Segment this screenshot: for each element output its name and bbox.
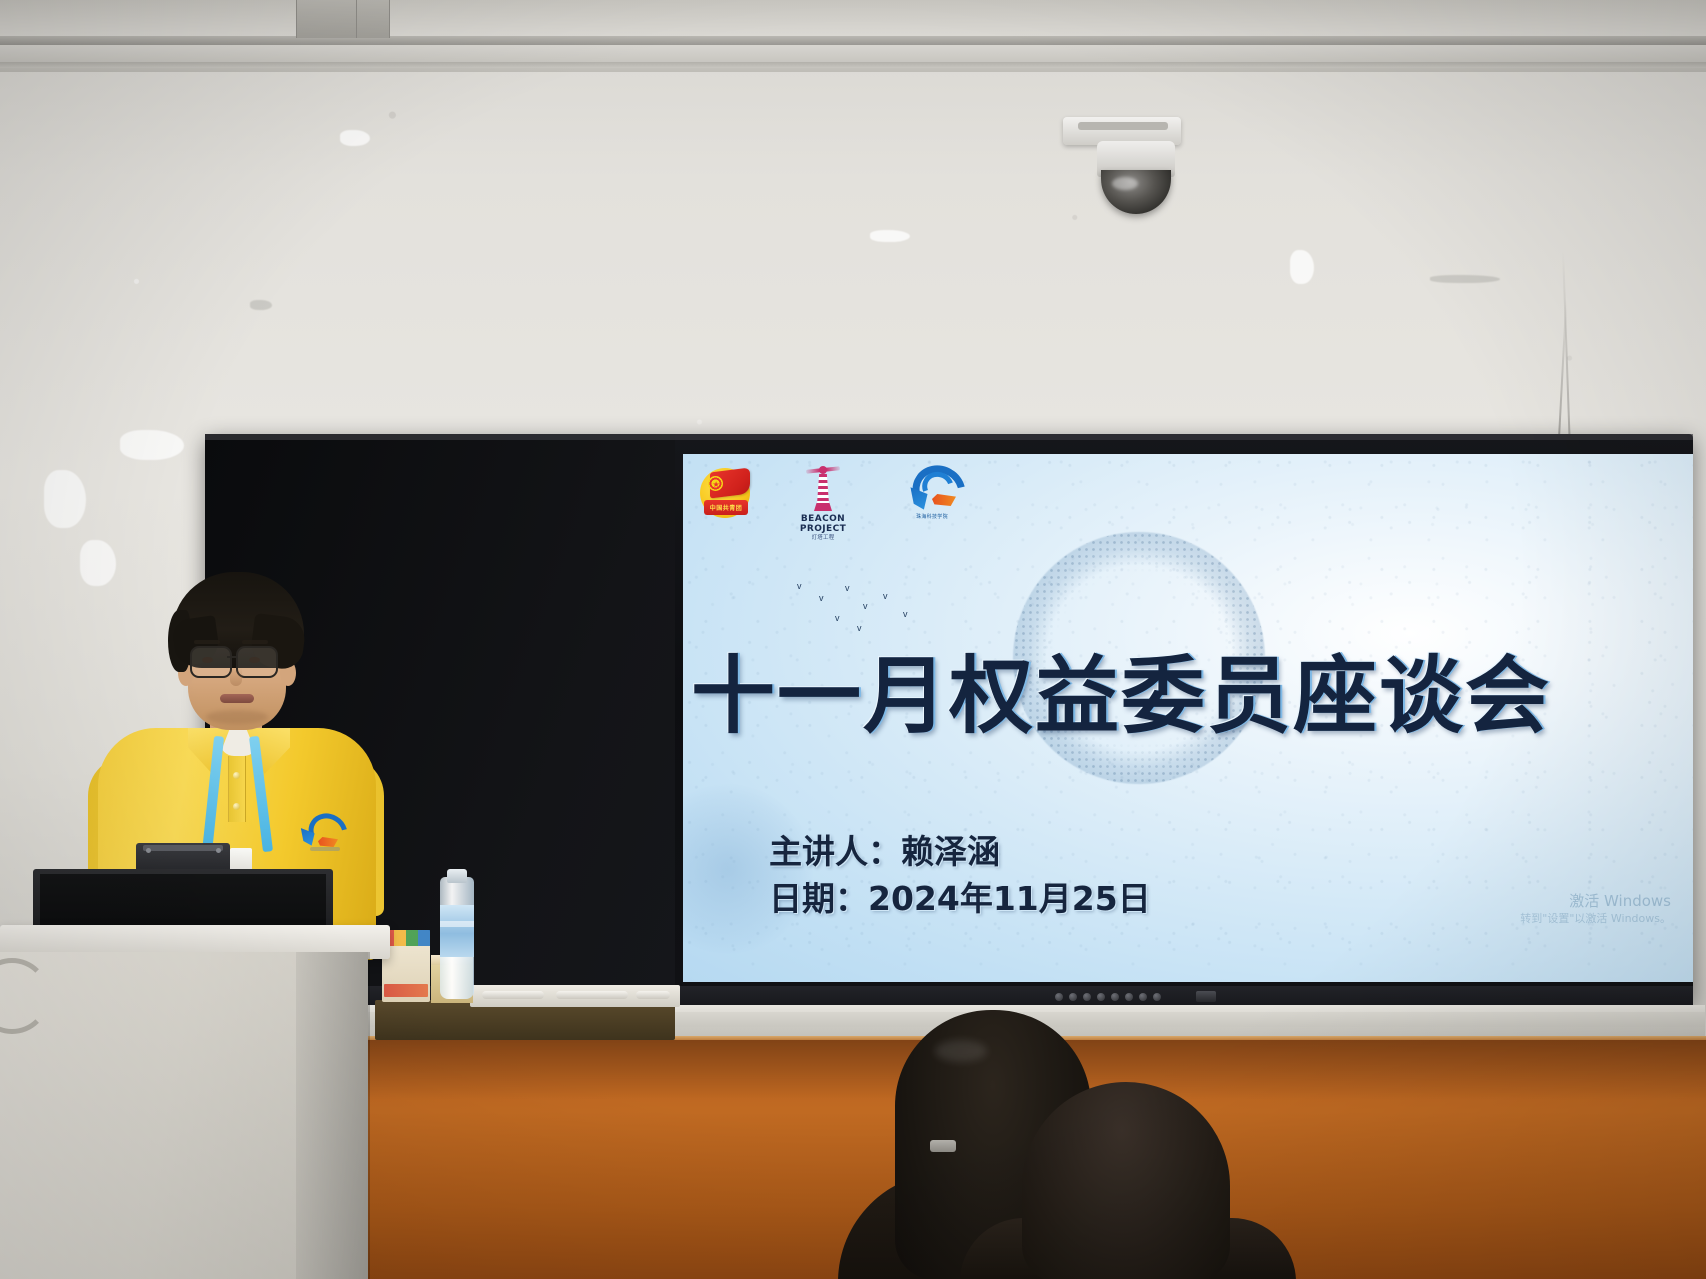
- clipboard-screw: [216, 848, 221, 853]
- whiteboard-eraser: [636, 991, 670, 999]
- classroom-photo-scene: ★ 中国共青团 BEACON PROJECT 灯塔工程: [0, 0, 1706, 1279]
- water-bottle-label: [440, 905, 474, 957]
- slide-date-line: 日期：2024年11月25日: [769, 875, 1151, 922]
- panel-top-bezel: [205, 434, 1693, 440]
- panel-led: [1125, 993, 1133, 1001]
- slide-title: 十一月权益委员座谈会: [691, 650, 1693, 742]
- camera-dome-highlight: [1112, 177, 1138, 190]
- slide-birds-decoration: v v v v v v v v: [791, 580, 961, 638]
- water-bottle-label-stripe: [440, 921, 474, 927]
- ceiling-rail-secondary: [0, 62, 1706, 68]
- lighthouse-shaft: [817, 474, 829, 504]
- slide-logo-row: ★ 中国共青团 BEACON PROJECT 灯塔工程: [699, 464, 973, 542]
- school-wave-logo: 珠海科技学院: [891, 464, 973, 520]
- panel-ir-sensor: [1196, 991, 1216, 1002]
- person-eyebrow-left: [194, 640, 220, 644]
- wall-scuff: [1430, 275, 1500, 283]
- watermark-line1: 激活 Windows: [1520, 892, 1671, 911]
- panel-led: [1097, 993, 1105, 1001]
- person-mouth: [220, 694, 254, 703]
- chest-logo-text: [310, 847, 340, 851]
- watermark-line2: 转到"设置"以激活 Windows。: [1520, 911, 1671, 926]
- wave-bird-icon: [904, 464, 960, 512]
- bird-icon: v: [903, 610, 908, 619]
- person-eye-left: [202, 657, 213, 663]
- panel-indicator-lights: [1055, 990, 1185, 1003]
- wall-scuff: [1290, 250, 1314, 284]
- panel-led: [1055, 993, 1063, 1001]
- slide-subtitle-block: 主讲人：赖泽涵 日期：2024年11月25日: [769, 828, 1151, 922]
- wall-scuff: [250, 300, 272, 310]
- youth-league-ribbon-text: 中国共青团: [710, 503, 743, 512]
- clipboard-clip: [143, 845, 223, 851]
- shirt-chest-logo: [298, 813, 346, 853]
- person-eye-right: [249, 657, 260, 663]
- ceiling-rail: [0, 36, 1706, 45]
- beacon-logo-line2: PROJECT: [800, 524, 846, 534]
- person-eyebrow-right: [242, 640, 268, 644]
- shirt-button: [233, 803, 240, 810]
- star-icon: ★: [713, 481, 720, 489]
- tissue-box-label: [384, 984, 428, 997]
- bird-icon: v: [857, 624, 862, 633]
- whiteboard-marker: [482, 991, 544, 999]
- audience-head: [1022, 1082, 1230, 1279]
- bird-icon: v: [835, 614, 840, 623]
- wall-scuff: [120, 430, 184, 460]
- panel-led: [1111, 993, 1119, 1001]
- windows-activation-watermark: 激活 Windows 转到"设置"以激活 Windows。: [1520, 892, 1671, 926]
- lighthouse-base: [814, 503, 832, 511]
- person-nose: [230, 668, 242, 686]
- bird-icon: v: [819, 594, 824, 603]
- panel-led: [1069, 993, 1077, 1001]
- whiteboard-marker: [556, 991, 628, 999]
- youth-league-ribbon: 中国共青团: [704, 500, 748, 515]
- hair-clip-icon: [930, 1140, 956, 1152]
- beacon-logo-line3: 灯塔工程: [812, 535, 835, 542]
- panel-led: [1083, 993, 1091, 1001]
- water-bottle-cap: [447, 869, 467, 883]
- bird-icon: v: [845, 584, 850, 593]
- lighthouse-icon: [810, 466, 836, 512]
- wall-scuff: [870, 230, 910, 242]
- audience-hair-highlight: [935, 1040, 987, 1062]
- ceiling-vent: [296, 0, 358, 38]
- lighthouse-lamp: [819, 466, 827, 474]
- panel-led: [1153, 993, 1161, 1001]
- beacon-project-logo: BEACON PROJECT 灯塔工程: [791, 464, 855, 542]
- person-chin-shadow: [206, 710, 268, 724]
- ceiling-vent: [356, 0, 390, 38]
- bird-icon: v: [863, 602, 868, 611]
- presentation-slide: ★ 中国共青团 BEACON PROJECT 灯塔工程: [683, 454, 1693, 982]
- slide-speaker-line: 主讲人：赖泽涵: [769, 828, 1151, 875]
- youth-league-logo: ★ 中国共青团: [699, 464, 755, 520]
- wall-scuff: [340, 130, 370, 146]
- bird-icon: v: [797, 582, 802, 591]
- podium-edge-shadow: [296, 952, 370, 1279]
- beacon-logo-line1: BEACON: [801, 514, 845, 524]
- glasses-bridge: [227, 656, 238, 658]
- shirt-placket: [228, 756, 246, 822]
- wall-scuff: [44, 470, 86, 528]
- clipboard-screw: [146, 848, 151, 853]
- bird-icon: v: [883, 592, 888, 601]
- shirt-button: [233, 772, 240, 779]
- panel-led: [1139, 993, 1147, 1001]
- camera-mount-bar: [1078, 122, 1168, 130]
